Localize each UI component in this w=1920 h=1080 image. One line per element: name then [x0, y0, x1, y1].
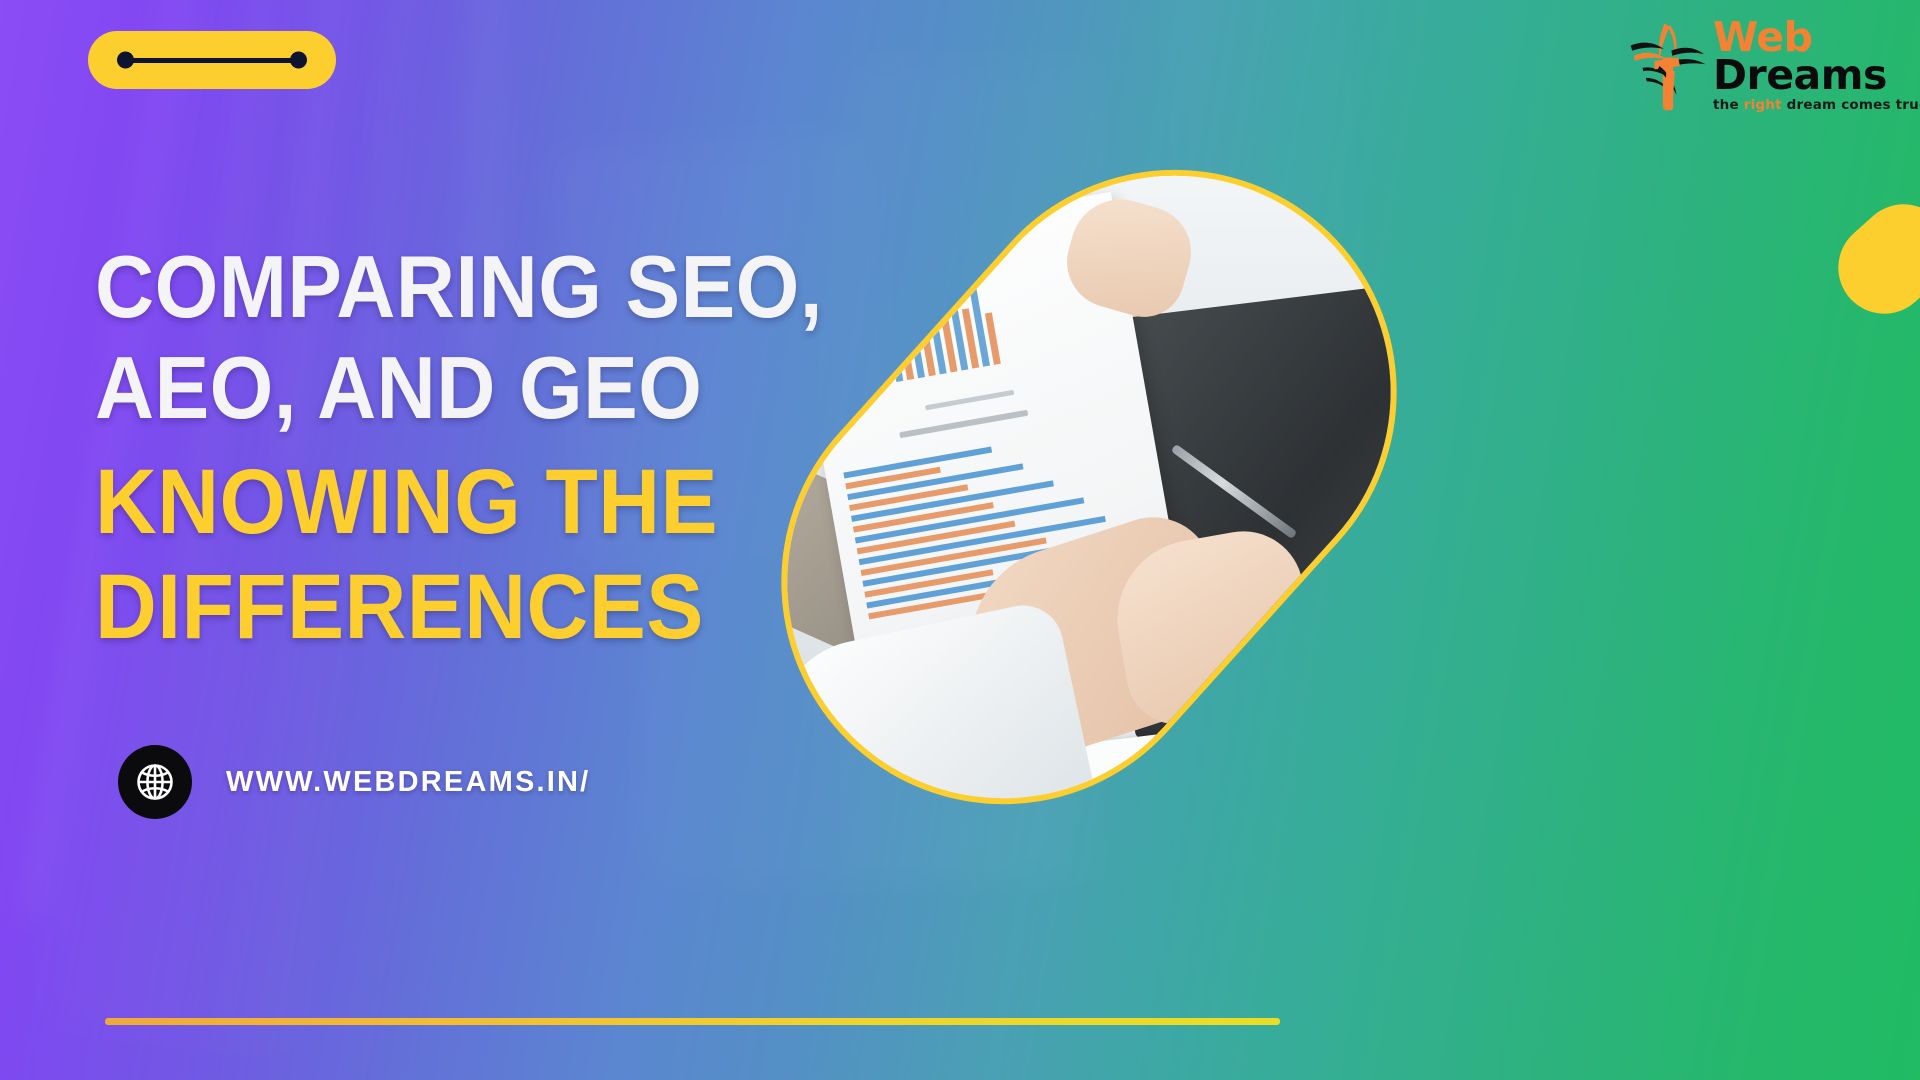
- website-url-row[interactable]: WWW.WEBDREAMS.IN/: [118, 745, 590, 819]
- brand-logo[interactable]: Web Dreams ® the right dream comes true: [1625, 14, 1903, 118]
- headline-line-2: AEO, AND GEO: [95, 344, 858, 431]
- logo-word-dreams: Dreams: [1713, 56, 1920, 95]
- promotional-banner: COMPARING SEO, AEO, AND GEO KNOWING THE …: [0, 0, 1920, 1080]
- footer-divider-line: [105, 1018, 1280, 1025]
- decorative-pill-badge: [88, 31, 336, 89]
- analytics-report-photo: [690, 107, 1488, 867]
- dumbbell-line-icon: [123, 58, 301, 63]
- hero-photo-capsule: [690, 78, 1488, 895]
- globe-icon: [118, 745, 192, 819]
- hero-photo-group: [845, 95, 1525, 825]
- headline-line-3: KNOWING THE: [95, 457, 858, 548]
- webdreams-butterfly-mark: [1625, 20, 1711, 112]
- logo-wordmark: Web Dreams ® the right dream comes true: [1713, 19, 1920, 114]
- logo-tagline: the right dream comes true: [1713, 97, 1920, 113]
- logo-tagline-post: dream comes true: [1787, 97, 1920, 113]
- accent-pill-top: [1819, 185, 1920, 332]
- logo-tagline-pre: the: [1713, 97, 1739, 113]
- headline-line-1: COMPARING SEO,: [95, 243, 858, 330]
- website-url-text: WWW.WEBDREAMS.IN/: [226, 766, 590, 799]
- logo-tagline-highlight: right: [1744, 97, 1782, 113]
